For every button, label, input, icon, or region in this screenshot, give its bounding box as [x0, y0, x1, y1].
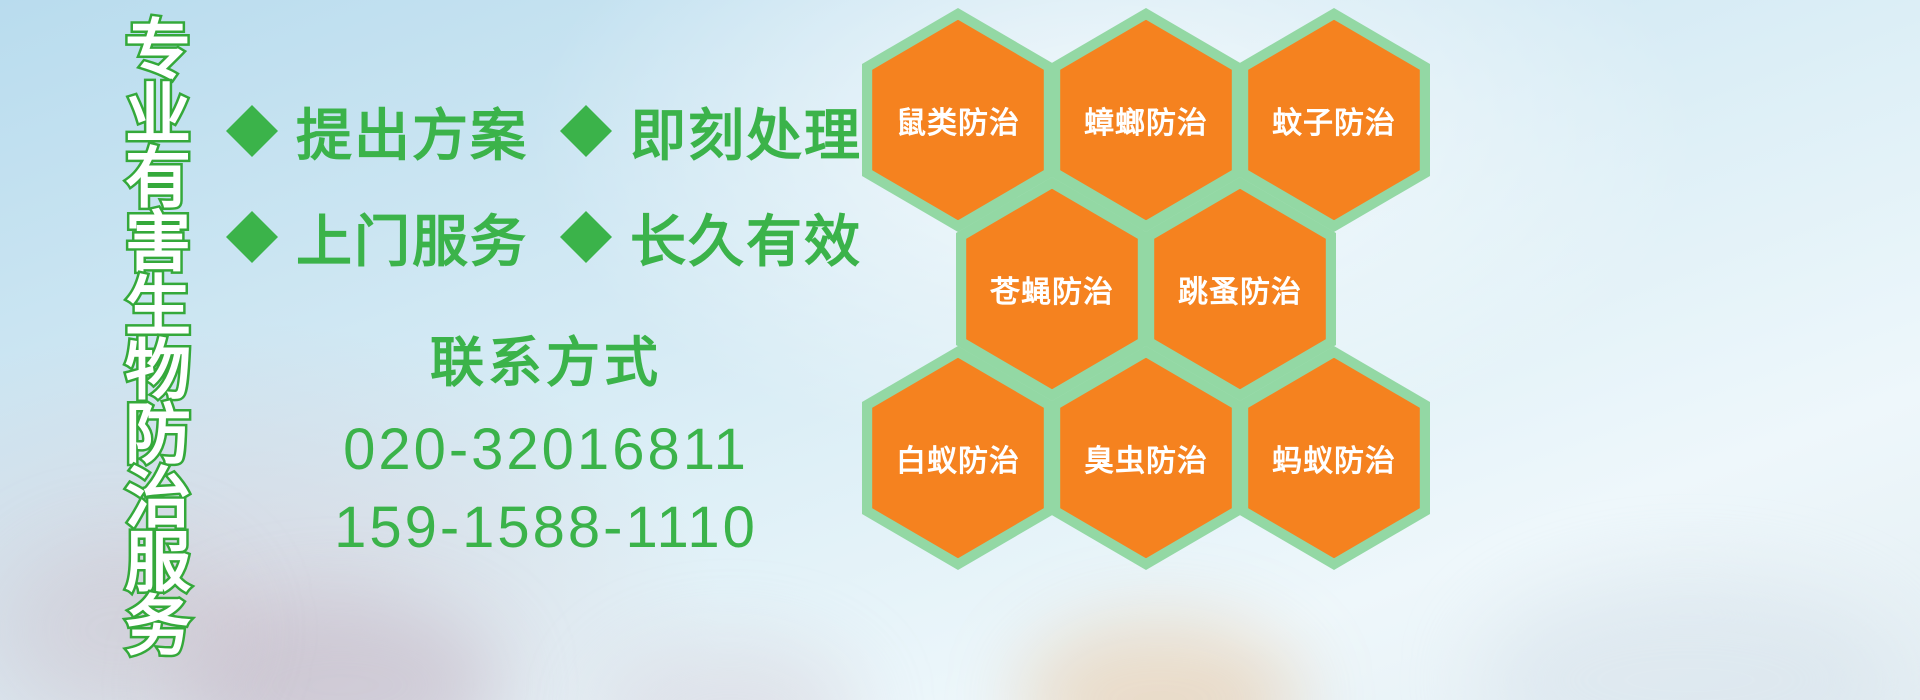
feature-item: 上门服务 — [226, 197, 528, 278]
feature-label: 提出方案 — [296, 91, 528, 172]
service-hex-bedbug[interactable]: 臭虫防治 — [1050, 346, 1242, 570]
diamond-bullet-icon — [226, 79, 278, 131]
pest-control-banner: 专 业 有 害 生 物 防 治 服 务 提出方案 即刻处理 上门服务 — [0, 0, 1920, 700]
service-label: 鼠类防治 — [896, 98, 1020, 142]
service-hex-termite[interactable]: 白蚁防治 — [862, 346, 1054, 570]
service-label: 白蚁防治 — [896, 436, 1020, 480]
contact-title: 联系方式 — [226, 318, 866, 397]
feature-item: 提出方案 — [226, 91, 528, 172]
vertical-headline-char: 治 — [125, 466, 191, 530]
vertical-headline: 专 业 有 害 生 物 防 治 服 务 — [106, 18, 210, 658]
contact-block: 联系方式 020-32016811 159-1588-1110 — [226, 318, 866, 568]
feature-label: 即刻处理 — [630, 91, 862, 172]
background-blur-blob — [180, 600, 500, 700]
phone-number-mobile[interactable]: 159-1588-1110 — [226, 489, 866, 567]
service-label: 臭虫防治 — [1084, 436, 1208, 480]
vertical-headline-char: 生 — [125, 274, 191, 338]
vertical-headline-char: 物 — [125, 338, 191, 402]
background-blur-blob — [1480, 580, 1900, 700]
feature-label: 上门服务 — [296, 197, 528, 278]
service-label: 蟑螂防治 — [1084, 98, 1208, 142]
vertical-headline-char: 业 — [125, 82, 191, 146]
vertical-headline-char: 务 — [125, 594, 191, 658]
vertical-headline-char: 害 — [125, 210, 191, 274]
vertical-headline-char: 专 — [125, 18, 191, 82]
diamond-bullet-icon — [560, 185, 612, 237]
feature-row: 提出方案 即刻处理 — [226, 78, 866, 184]
service-honeycomb: 鼠类防治 蟑螂防治 蚊子防治 苍蝇防治 跳蚤防治 白蚁防治 — [862, 0, 1462, 560]
service-hex-ant[interactable]: 蚂蚁防治 — [1238, 346, 1430, 570]
feature-row: 上门服务 长久有效 — [226, 184, 866, 290]
feature-item: 长久有效 — [560, 197, 862, 278]
feature-label: 长久有效 — [630, 197, 862, 278]
diamond-bullet-icon — [560, 79, 612, 131]
phone-number-landline[interactable]: 020-32016811 — [226, 411, 866, 489]
vertical-headline-char: 有 — [125, 146, 191, 210]
diamond-bullet-icon — [226, 185, 278, 237]
vertical-headline-char: 服 — [125, 530, 191, 594]
service-label: 苍蝇防治 — [990, 267, 1114, 311]
background-blur-blob — [1020, 620, 1300, 700]
background-blur-blob — [600, 640, 860, 700]
feature-list: 提出方案 即刻处理 上门服务 长久有效 — [226, 78, 866, 290]
service-label: 蚊子防治 — [1272, 98, 1396, 142]
service-label: 蚂蚁防治 — [1272, 436, 1396, 480]
service-label: 跳蚤防治 — [1178, 267, 1302, 311]
vertical-headline-char: 防 — [125, 402, 191, 466]
feature-item: 即刻处理 — [560, 91, 862, 172]
